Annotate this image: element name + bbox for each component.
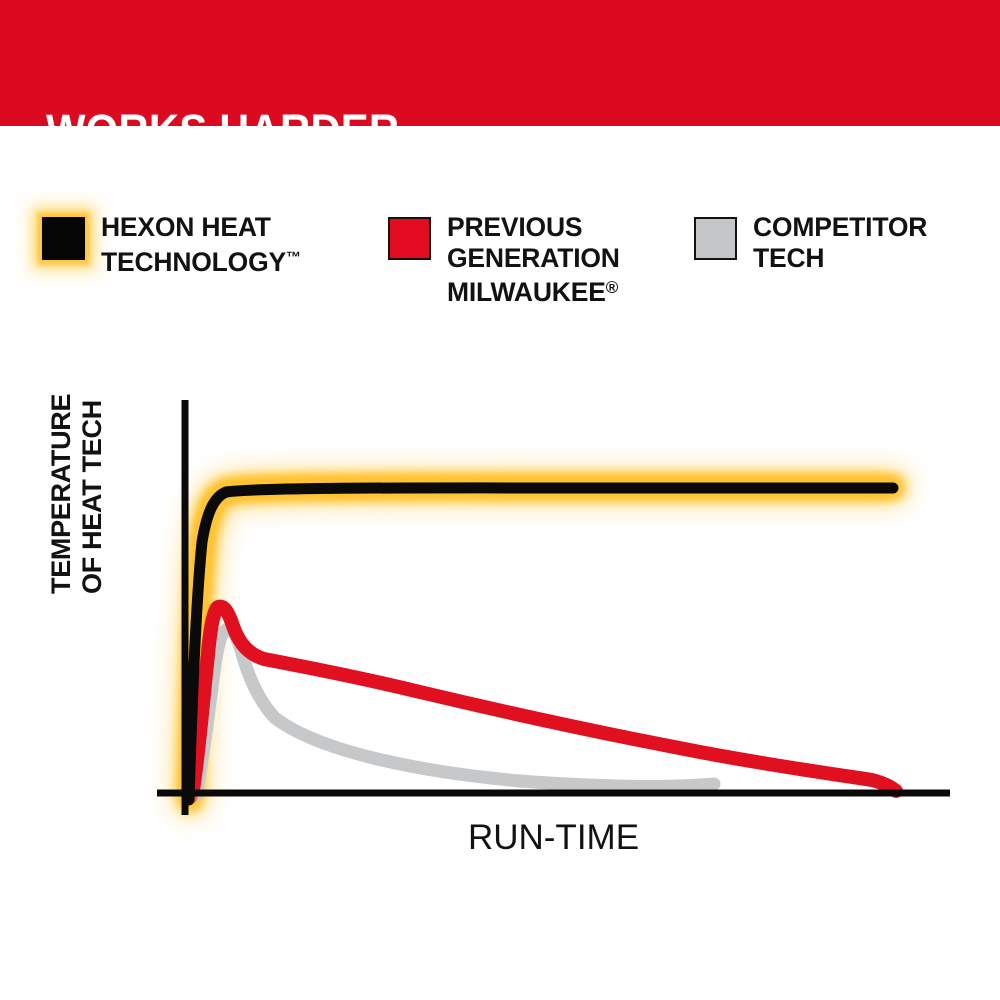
x-axis-title: RUN-TIME [157, 818, 950, 858]
hexon-curve-glow-inner [190, 487, 893, 800]
series-line-hexon-heat-technology [189, 488, 893, 800]
series-line-previous-generation-milwaukee [193, 607, 896, 791]
hexon-curve-glow-outer [190, 487, 893, 800]
chart-plot-area: TEMPERATUREOF HEAT TECH RUN-TIME [0, 0, 1000, 1000]
y-axis-title: TEMPERATUREOF HEAT TECH [46, 274, 108, 594]
y-axis-title-line-2: OF HEAT TECH [77, 400, 107, 594]
y-axis-title-line-1: TEMPERATURE [46, 394, 76, 594]
